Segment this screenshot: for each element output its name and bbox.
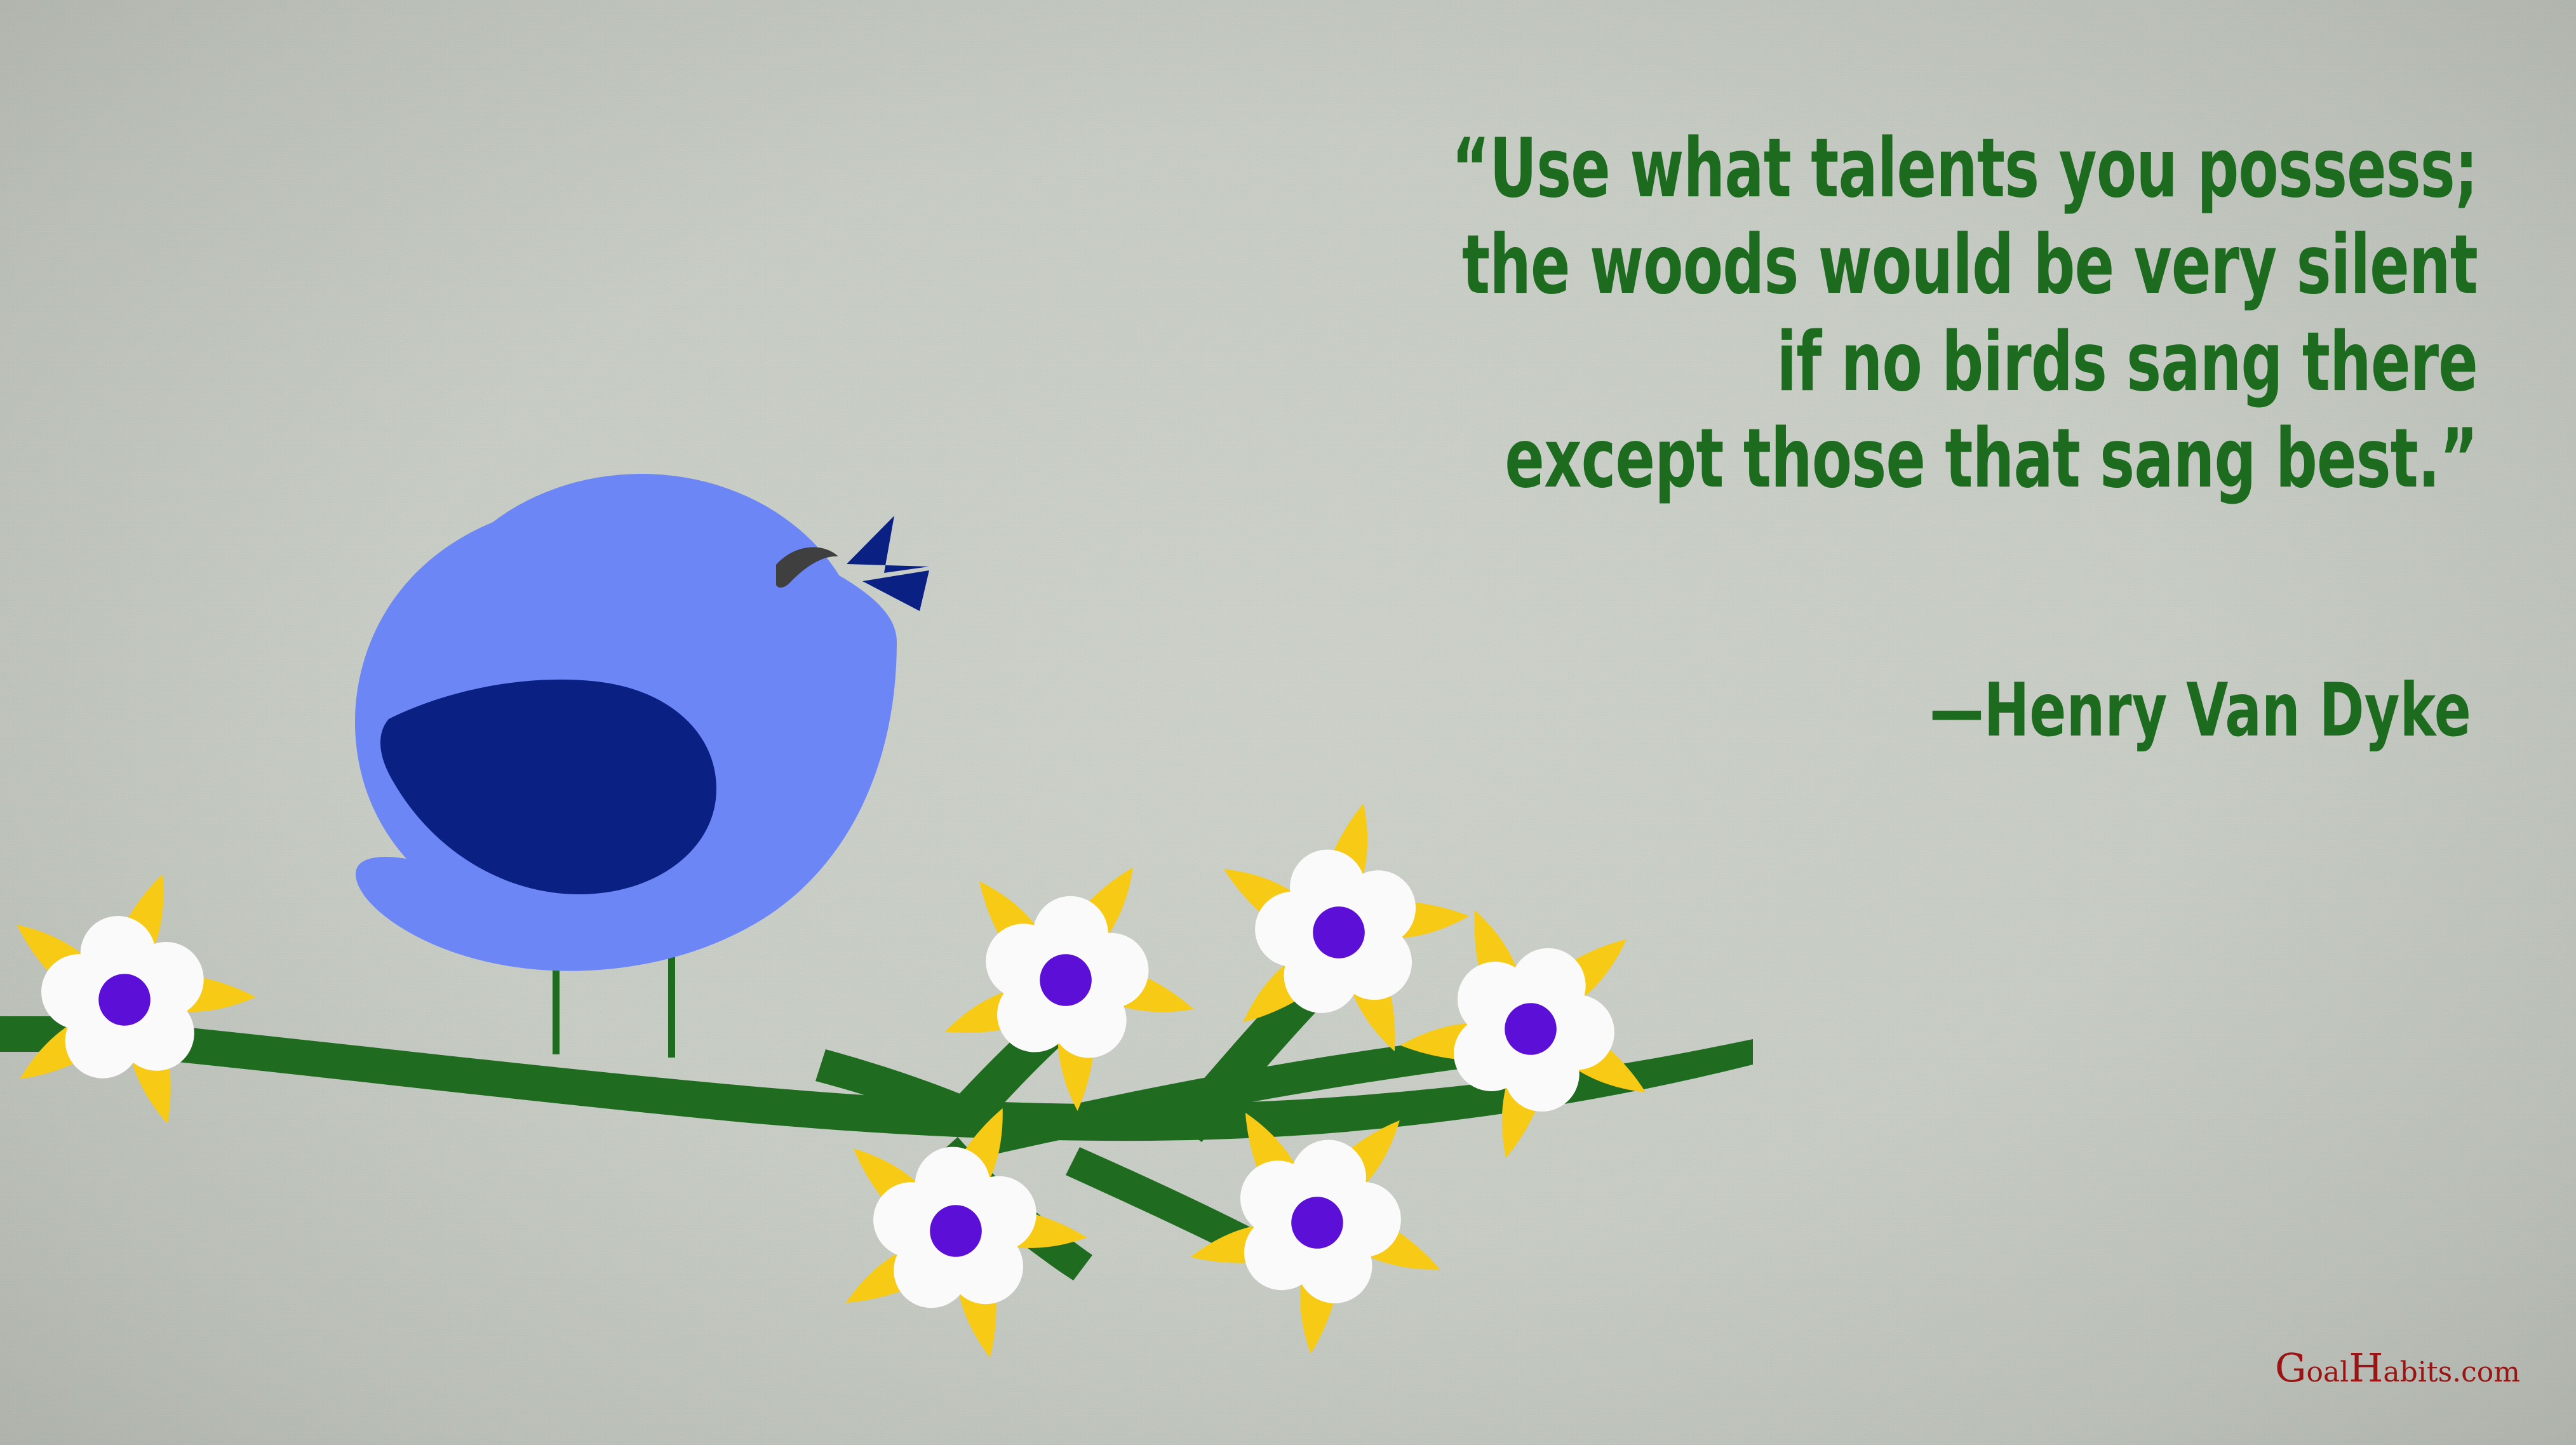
watermark-cap-h: H <box>2349 1345 2383 1391</box>
watermark-abits-com: abits.com <box>2383 1356 2520 1388</box>
bird-beak-upper <box>847 516 929 573</box>
watermark-oal: oal <box>2307 1356 2349 1388</box>
quote-line-2: the woods would be very silent <box>1385 217 2478 314</box>
flower-left <box>0 854 272 1145</box>
quote-line-3: if no birds sang there <box>1385 314 2478 411</box>
bluebird <box>355 474 929 1058</box>
watermark-cap-g: G <box>2275 1345 2307 1391</box>
quote-line-4: except those that sang best.” <box>1385 411 2478 507</box>
quote-poster: “Use what talents you possess; the woods… <box>0 0 2576 1445</box>
quote-attribution: —Henry Van Dyke <box>1929 670 2471 751</box>
quote-line-1: “Use what talents you possess; <box>1385 121 2478 217</box>
goalhabits-watermark[interactable]: GoalHabits.com <box>2275 1348 2520 1388</box>
quote-text-block: “Use what talents you possess; the woods… <box>1112 121 2478 507</box>
